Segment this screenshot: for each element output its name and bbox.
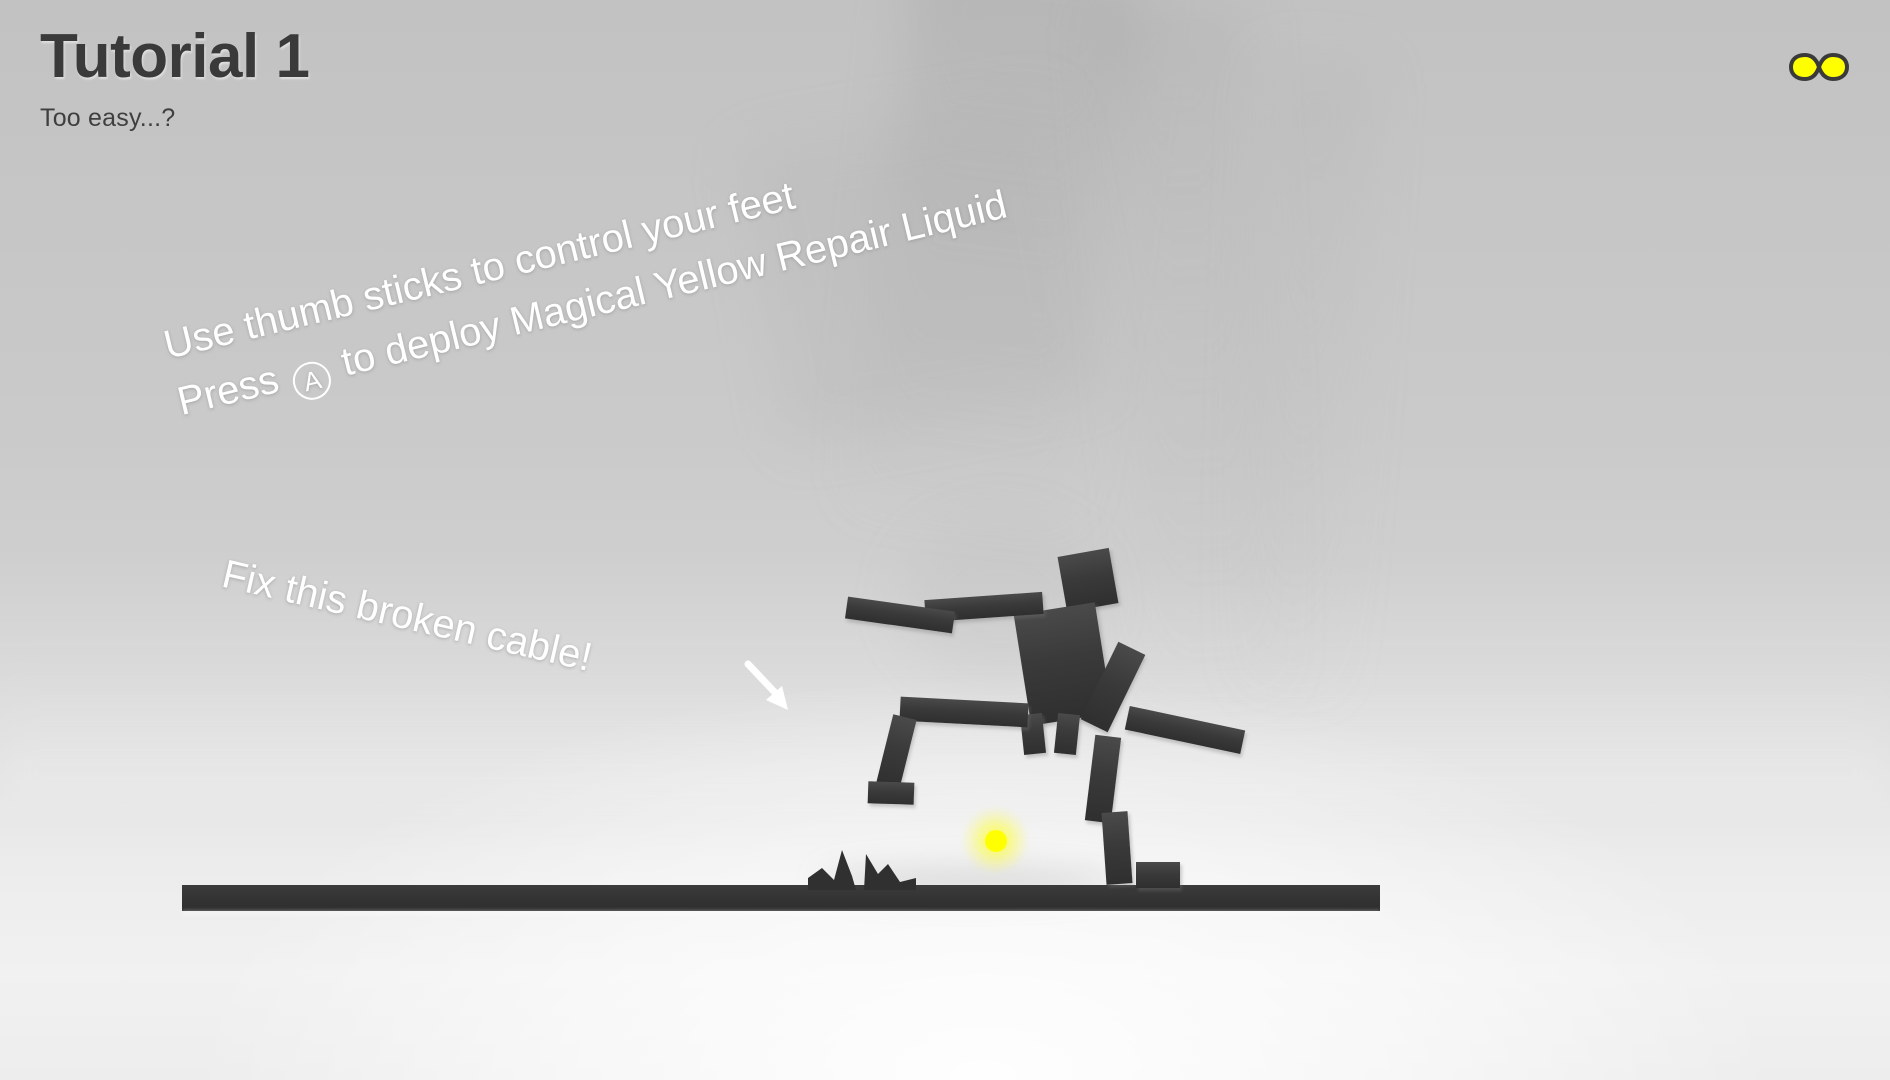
page-title: Tutorial 1	[40, 26, 309, 88]
character-arm-fore-right	[1125, 706, 1245, 754]
character-shin-right	[1102, 811, 1133, 885]
hint-arrow-icon	[742, 660, 806, 727]
character-thigh-left	[899, 697, 1028, 728]
lives-counter	[1786, 36, 1852, 98]
level-subtitle: Too easy...?	[40, 104, 309, 133]
character-foot-right	[1136, 862, 1180, 888]
character-foot-left	[868, 781, 915, 805]
character-thigh-right	[1085, 735, 1121, 824]
character-pelvis-right	[1054, 713, 1080, 755]
character-shin-left	[875, 714, 916, 792]
level-header: Tutorial 1 Too easy...?	[40, 26, 309, 133]
game-viewport: Tutorial 1 Too easy...? Use thumb sticks…	[0, 0, 1890, 1080]
repair-liquid-droplet	[985, 830, 1007, 852]
infinity-icon	[1787, 47, 1851, 87]
